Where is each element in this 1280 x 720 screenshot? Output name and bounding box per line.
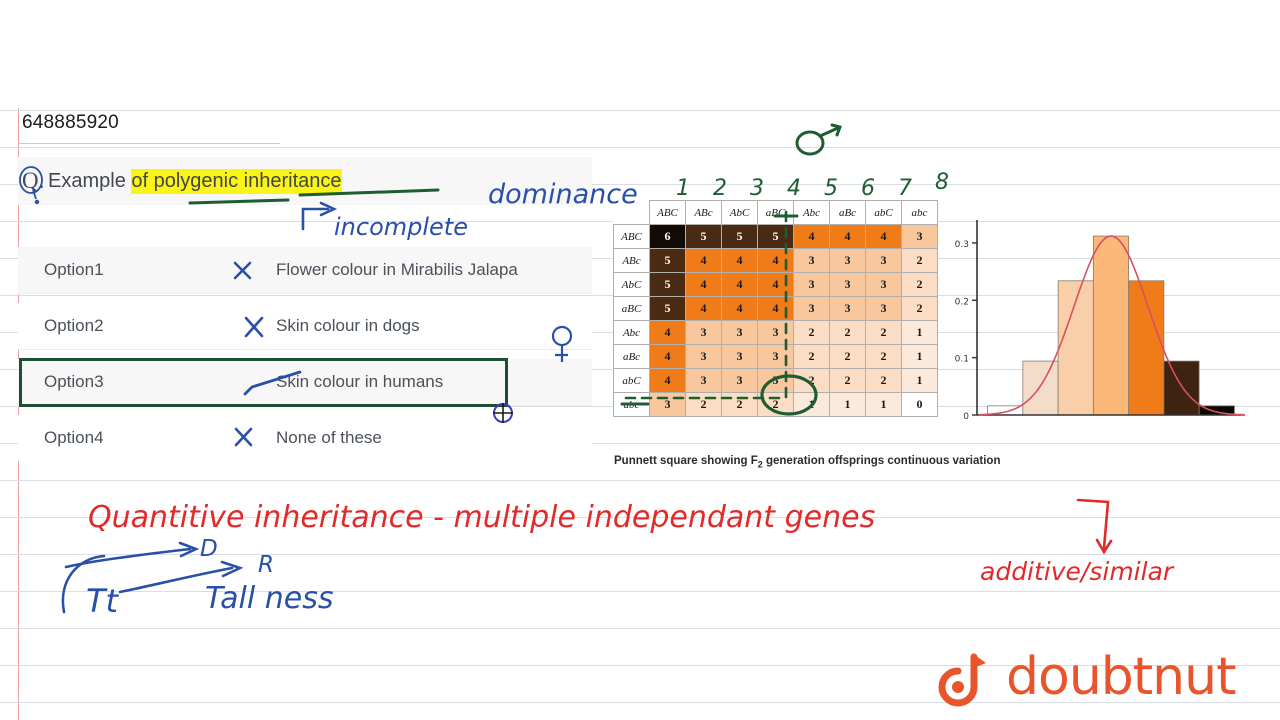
histogram-bars (988, 236, 1235, 415)
question-id: 648885920 (22, 112, 119, 134)
punnett-cell-r2-c3: 4 (722, 249, 758, 273)
selected-option-highlight-box (19, 358, 508, 407)
punnett-cell-r2-c6: 3 (830, 249, 866, 273)
option-text-2: Skin colour in dogs (276, 316, 420, 336)
option-label-4: Option4 (44, 428, 104, 448)
punnett-cell-r3-c6: 3 (830, 273, 866, 297)
option-text-1: Flower colour in Mirabilis Jalapa (276, 260, 518, 280)
option-label-2: Option2 (44, 316, 104, 336)
punnett-col-header-3: AbC (722, 201, 758, 225)
punnett-cell-r2-c4: 4 (758, 249, 794, 273)
punnett-cell-r4-c7: 3 (866, 297, 902, 321)
punnett-cell-r1-c2: 5 (686, 225, 722, 249)
punnett-cell-r3-c2: 4 (686, 273, 722, 297)
punnett-cell-r6-c3: 3 (722, 345, 758, 369)
option-divider-1 (18, 293, 592, 294)
punnett-col-header-8: abc (902, 201, 938, 225)
punnett-cell-r5-c7: 2 (866, 321, 902, 345)
punnett-cell-r4-c4: 4 (758, 297, 794, 321)
page-title: Example of polygenic inheritance (48, 170, 342, 193)
punnett-cell-r8-c2: 2 (686, 393, 722, 417)
punnett-cell-r5-c3: 3 (722, 321, 758, 345)
punnett-cell-r3-c3: 4 (722, 273, 758, 297)
punnett-square-table: ABCABcAbCaBCAbcaBcabCabc ABC65554443ABc5… (613, 200, 938, 417)
punnett-cell-r8-c1: 3 (650, 393, 686, 417)
question-id-divider (18, 143, 280, 144)
punnett-cell-r6-c6: 2 (830, 345, 866, 369)
punnett-cell-r7-c6: 2 (830, 369, 866, 393)
punnett-cell-r1-c5: 4 (794, 225, 830, 249)
page-rule-line (0, 628, 1280, 629)
option-row-2[interactable]: Option2 Skin colour in dogs (18, 303, 592, 349)
punnett-cell-r8-c5: 1 (794, 393, 830, 417)
punnett-cell-r1-c4: 5 (758, 225, 794, 249)
punnett-cell-r2-c5: 3 (794, 249, 830, 273)
punnett-row: ABC65554443 (614, 225, 938, 249)
mouse-cursor-crosshair (492, 402, 514, 424)
punnett-cell-r6-c5: 2 (794, 345, 830, 369)
punnett-header-row: ABCABcAbCaBCAbcaBcabCabc (614, 201, 938, 225)
punnett-body: ABC65554443ABc54443332AbC54443332aBC5444… (614, 225, 938, 417)
punnett-cell-r7-c1: 4 (650, 369, 686, 393)
punnett-cell-r8-c7: 1 (866, 393, 902, 417)
caption-before: Punnett square showing F (614, 455, 758, 467)
punnett-cell-r4-c6: 3 (830, 297, 866, 321)
punnett-row: abC43332221 (614, 369, 938, 393)
doubtnut-logo[interactable]: doubtnut (936, 645, 1256, 709)
punnett-cell-r2-c7: 3 (866, 249, 902, 273)
y-tick-label-0.2: 0.2 (955, 297, 969, 307)
punnett-cell-r7-c7: 2 (866, 369, 902, 393)
question-prefix: Q. (22, 168, 44, 194)
punnett-row: abc32221110 (614, 393, 938, 417)
punnett-cell-r7-c2: 3 (686, 369, 722, 393)
punnett-cell-r8-c6: 1 (830, 393, 866, 417)
punnett-row: aBC54443332 (614, 297, 938, 321)
punnett-cell-r4-c3: 4 (722, 297, 758, 321)
page-rule-line (0, 110, 1280, 111)
punnett-cell-r3-c7: 3 (866, 273, 902, 297)
punnett-cell-r3-c5: 3 (794, 273, 830, 297)
page-rule-line (0, 591, 1280, 592)
punnett-row: AbC54443332 (614, 273, 938, 297)
question-text-highlighted: of polygenic inheritance (131, 169, 341, 194)
punnett-cell-r6-c8: 1 (902, 345, 938, 369)
doubtnut-wordmark: doubtnut (1006, 647, 1235, 707)
punnett-figure: ABCABcAbCaBCAbcaBcabCabc ABC65554443ABc5… (600, 155, 1260, 485)
punnett-cell-r1-c3: 5 (722, 225, 758, 249)
punnett-row: Abc43332221 (614, 321, 938, 345)
punnett-cell-r1-c8: 3 (902, 225, 938, 249)
punnett-cell-r5-c2: 3 (686, 321, 722, 345)
page-rule-line (0, 147, 1280, 148)
punnett-cell-r1-c7: 4 (866, 225, 902, 249)
punnett-cell-r7-c4: 3 (758, 369, 794, 393)
punnett-col-header-6: aBc (830, 201, 866, 225)
punnett-cell-r6-c1: 4 (650, 345, 686, 369)
punnett-corner-cell (614, 201, 650, 225)
doubtnut-d-icon (936, 645, 1000, 709)
punnett-cell-r7-c8: 1 (902, 369, 938, 393)
punnett-col-header-2: ABc (686, 201, 722, 225)
question-text-plain: Example (48, 170, 131, 192)
punnett-row-header-7: abC (614, 369, 650, 393)
punnett-cell-r5-c5: 2 (794, 321, 830, 345)
punnett-col-header-1: ABC (650, 201, 686, 225)
punnett-row-header-8: abc (614, 393, 650, 417)
punnett-cell-r3-c8: 2 (902, 273, 938, 297)
punnett-row: aBc43332221 (614, 345, 938, 369)
punnett-cell-r2-c2: 4 (686, 249, 722, 273)
page-rule-line (0, 517, 1280, 518)
punnett-cell-r4-c8: 2 (902, 297, 938, 321)
punnett-cell-r6-c4: 3 (758, 345, 794, 369)
y-tick-label-0: 0 (963, 412, 969, 422)
punnett-row: ABc54443332 (614, 249, 938, 273)
variation-histogram: 00.10.20.3 (945, 210, 1250, 445)
punnett-cell-r8-c3: 2 (722, 393, 758, 417)
punnett-cell-r2-c8: 2 (902, 249, 938, 273)
punnett-cell-r3-c1: 5 (650, 273, 686, 297)
punnett-cell-r6-c7: 2 (866, 345, 902, 369)
y-tick-label-0.3: 0.3 (955, 240, 969, 250)
punnett-col-header-5: Abc (794, 201, 830, 225)
punnett-row-header-4: aBC (614, 297, 650, 321)
punnett-row-header-1: ABC (614, 225, 650, 249)
punnett-cell-r5-c8: 1 (902, 321, 938, 345)
histogram-bar-3 (1093, 236, 1128, 415)
punnett-cell-r7-c5: 2 (794, 369, 830, 393)
punnett-row-header-2: ABc (614, 249, 650, 273)
punnett-cell-r4-c2: 4 (686, 297, 722, 321)
punnett-row-header-6: aBc (614, 345, 650, 369)
histogram-bar-1 (1023, 361, 1058, 415)
punnett-cell-r5-c1: 4 (650, 321, 686, 345)
option-row-1[interactable]: Option1 Flower colour in Mirabilis Jalap… (18, 247, 592, 293)
punnett-cell-r1-c6: 4 (830, 225, 866, 249)
option-label-1: Option1 (44, 260, 104, 280)
punnett-cell-r8-c4: 2 (758, 393, 794, 417)
punnett-cell-r4-c5: 3 (794, 297, 830, 321)
figure-caption: Punnett square showing F2 generation off… (614, 455, 1000, 469)
caption-after: generation offsprings continuous variati… (763, 455, 1001, 467)
punnett-cell-r5-c6: 2 (830, 321, 866, 345)
punnett-cell-r1-c1: 6 (650, 225, 686, 249)
y-tick-label-0.1: 0.1 (955, 355, 969, 365)
punnett-row-header-5: Abc (614, 321, 650, 345)
punnett-cell-r6-c2: 3 (686, 345, 722, 369)
punnett-cell-r2-c1: 5 (650, 249, 686, 273)
option-divider-2 (18, 349, 592, 350)
punnett-cell-r8-c8: 0 (902, 393, 938, 417)
page-rule-line (0, 554, 1280, 555)
punnett-cell-r3-c4: 4 (758, 273, 794, 297)
punnett-col-header-7: abC (866, 201, 902, 225)
option-text-4: None of these (276, 428, 382, 448)
punnett-cell-r7-c3: 3 (722, 369, 758, 393)
punnett-cell-r5-c4: 3 (758, 321, 794, 345)
histogram-bar-5 (1164, 361, 1199, 415)
punnett-row-header-3: AbC (614, 273, 650, 297)
punnett-cell-r4-c1: 5 (650, 297, 686, 321)
punnett-col-header-4: aBC (758, 201, 794, 225)
